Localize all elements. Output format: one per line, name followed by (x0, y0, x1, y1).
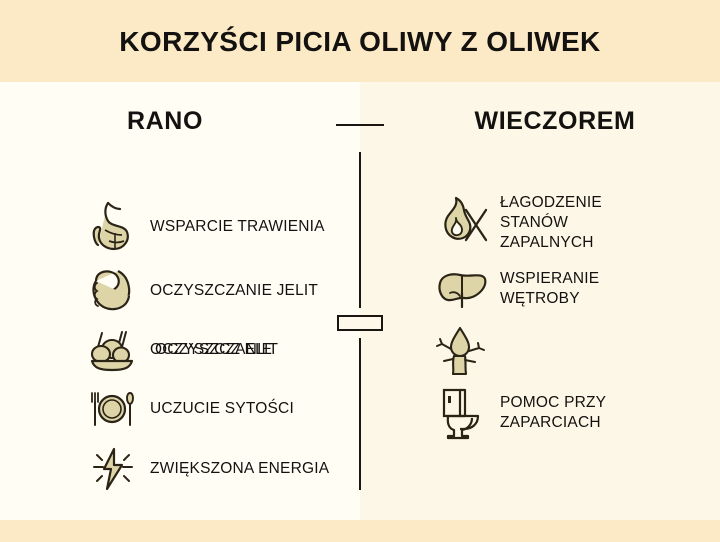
overlap-text-back: OCZYSZCZ ELIT (155, 341, 278, 359)
evening-column-heading: WIECZOREM (390, 107, 720, 136)
intestines-icon (82, 260, 144, 322)
list-item: UCZUCIE SYTOŚCI (82, 378, 294, 440)
list-item-label: ŁAGODZENIE STANÓW ZAPALNYCH (500, 193, 602, 252)
liver-icon (432, 258, 494, 320)
stomach-icon (82, 196, 144, 258)
toilet-icon (432, 382, 494, 444)
infographic-poster: KORZYŚCI PICIA OLIWY Z OLIWEK RANO WIECZ… (0, 0, 720, 542)
lightning-bolt-icon (82, 438, 144, 500)
morning-column-heading: RANO (0, 107, 330, 136)
list-item: OCZYSZCZANIE JELIT (82, 260, 318, 322)
flame-crossed-out-icon (432, 192, 494, 254)
list-item-label: POMOC PRZY ZAPARCIACH (500, 393, 606, 433)
list-item-label: ZWIĘKSZONA ENERGIA (150, 459, 329, 479)
list-item: POMOC PRZY ZAPARCIACH (432, 382, 606, 444)
plate-cutlery-icon (82, 378, 144, 440)
vertical-divider-lower (359, 338, 361, 490)
footer-band (0, 520, 720, 542)
list-item-label: UCZUCIE SYTOŚCI (150, 399, 294, 419)
list-item-label: WSPARCIE TRAWIENIA (150, 217, 325, 237)
list-item-label: OCZYSZCZANIE JELIT (150, 281, 318, 301)
list-item: OCZYSZCZANIE OCZYSZCZ ELIT (82, 320, 150, 382)
heading-divider-dash (336, 124, 384, 126)
list-item: WSPIERANIE WĘTROBY (432, 258, 599, 320)
vertical-divider-upper (359, 152, 361, 308)
list-item: ZWIĘKSZONA ENERGIA (82, 438, 329, 500)
list-item: ŁAGODZENIE STANÓW ZAPALNYCH (432, 192, 602, 254)
list-item (432, 320, 500, 382)
list-item: WSPARCIE TRAWIENIA (82, 196, 325, 258)
page-title: KORZYŚCI PICIA OLIWY Z OLIWEK (0, 26, 720, 58)
droplet-splash-icon (432, 320, 494, 382)
food-plate-icon (82, 320, 144, 382)
list-item-label: WSPIERANIE WĘTROBY (500, 269, 599, 309)
divider-center-badge (337, 315, 383, 331)
